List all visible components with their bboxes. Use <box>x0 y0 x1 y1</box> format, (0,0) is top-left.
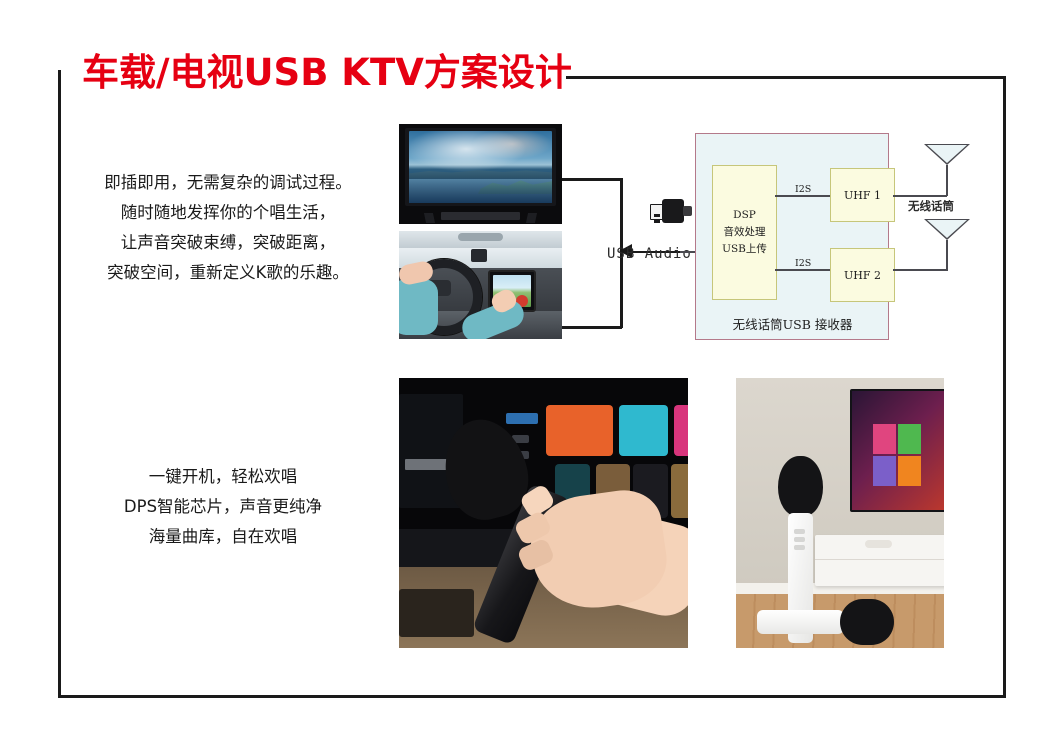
usb-audio-label: USB Audio <box>607 246 692 262</box>
tv-screen-water <box>409 179 552 203</box>
car-dashboard-photo <box>399 231 562 339</box>
connector-bracket-bottom <box>562 326 622 329</box>
white-microphones-living-room-photo <box>736 378 944 648</box>
feature-text-top-line-1: 即插即用，无需复杂的调试过程。 <box>78 168 378 198</box>
tv-foot-right <box>526 213 537 223</box>
car-media-tile-orange <box>546 405 612 456</box>
connector-bracket-top <box>562 178 622 181</box>
car-driver-sleeve <box>399 279 438 335</box>
lying-microphone-body <box>757 610 844 634</box>
tv-screen-hills <box>409 167 552 179</box>
frame-border-top <box>566 76 1006 79</box>
car-media-thumb-4 <box>671 464 688 518</box>
car-center-console <box>399 589 474 638</box>
usb-connector-shell <box>662 199 684 223</box>
feature-text-bottom-line-1: 一键开机，轻松欢唱 <box>78 462 368 492</box>
antenna-stem-1 <box>946 165 948 196</box>
i2s-wire-2 <box>775 269 830 271</box>
antenna-icon-1 <box>924 144 970 165</box>
usb-cable <box>683 206 692 216</box>
microphone-button-2 <box>794 537 804 541</box>
diagram-caption: 无线话筒USB 接收器 <box>700 314 885 333</box>
usb-pin-upper <box>654 214 660 217</box>
car-media-menu-highlight <box>506 413 538 424</box>
feature-text-bottom: 一键开机，轻松欢唱 DPS智能芯片，声音更纯净 海量曲库，自在欢唱 <box>78 462 368 552</box>
frame-border-left <box>58 70 61 698</box>
feature-text-top-line-2: 随时随地发挥你的个唱生活， <box>78 198 378 228</box>
tv-tile-music <box>873 424 896 454</box>
antenna-stem-2 <box>946 240 948 271</box>
media-cabinet-seam <box>815 559 944 560</box>
tv-screen <box>409 131 552 203</box>
frame-border-right <box>1003 78 1006 698</box>
lying-microphone-foam-head <box>840 599 894 645</box>
cabinet-decor-object <box>865 540 892 548</box>
car-media-tile-cyan <box>619 405 668 456</box>
dsp-block: DSP 音效处理 USB上传 <box>712 165 777 300</box>
car-phone-mount <box>471 249 487 262</box>
feature-text-bottom-line-3: 海量曲库，自在欢唱 <box>78 522 368 552</box>
microphone-button-1 <box>794 529 804 533</box>
antenna-icon-2 <box>924 219 970 240</box>
dsp-block-line-1: DSP <box>733 207 756 224</box>
i2s-wire-1 <box>775 195 830 197</box>
tv-landscape-photo <box>399 124 562 224</box>
page-title: 车载/电视USB KTV方案设计 <box>82 42 572 96</box>
slide-canvas: 车载/电视USB KTV方案设计 即插即用，无需复杂的调试过程。 随时随地发挥你… <box>0 0 1061 749</box>
hand-holding-microphone-in-car-photo <box>399 378 688 648</box>
uhf2-label: UHF 2 <box>844 269 881 282</box>
dsp-block-line-3: USB上传 <box>722 241 767 258</box>
i2s-label-1: I2S <box>793 184 813 195</box>
tv-foot-left <box>424 213 435 223</box>
car-rearview-mirror <box>458 233 504 241</box>
antenna-wire-2 <box>893 269 947 271</box>
wireless-mic-label: 无线话筒 <box>908 198 954 214</box>
feature-text-top-line-3: 让声音突破束缚，突破距离， <box>78 228 378 258</box>
feature-text-bottom-line-2: DPS智能芯片，声音更纯净 <box>78 492 368 522</box>
i2s-label-2: I2S <box>793 258 813 269</box>
tv-tile-view <box>898 456 921 486</box>
uhf1-block: UHF 1 <box>830 168 895 222</box>
feature-text-top-line-4: 突破空间，重新定义K歌的乐趣。 <box>78 258 378 288</box>
usb-connector-icon <box>650 198 690 224</box>
microphone-button-3 <box>794 545 804 549</box>
standing-microphone-foam-head <box>778 456 824 515</box>
frame-border-bottom <box>58 695 1006 698</box>
dsp-block-line-2: 音效处理 <box>724 224 766 241</box>
car-media-side-text <box>405 459 451 470</box>
wall-mounted-tv <box>850 389 944 512</box>
tv-tile-send <box>873 456 896 486</box>
uhf1-label: UHF 1 <box>844 189 881 202</box>
antenna-wire-1 <box>893 195 947 197</box>
feature-text-top: 即插即用，无需复杂的调试过程。 随时随地发挥你的个唱生活， 让声音突破束缚，突破… <box>78 168 378 288</box>
tv-stand <box>441 212 519 220</box>
tv-bezel <box>405 128 556 206</box>
diagram-input-wire <box>680 251 696 253</box>
uhf2-block: UHF 2 <box>830 248 895 302</box>
usb-pin-lower <box>654 220 660 223</box>
car-media-tile-pink <box>674 405 688 456</box>
tv-tile-chat <box>898 424 921 454</box>
